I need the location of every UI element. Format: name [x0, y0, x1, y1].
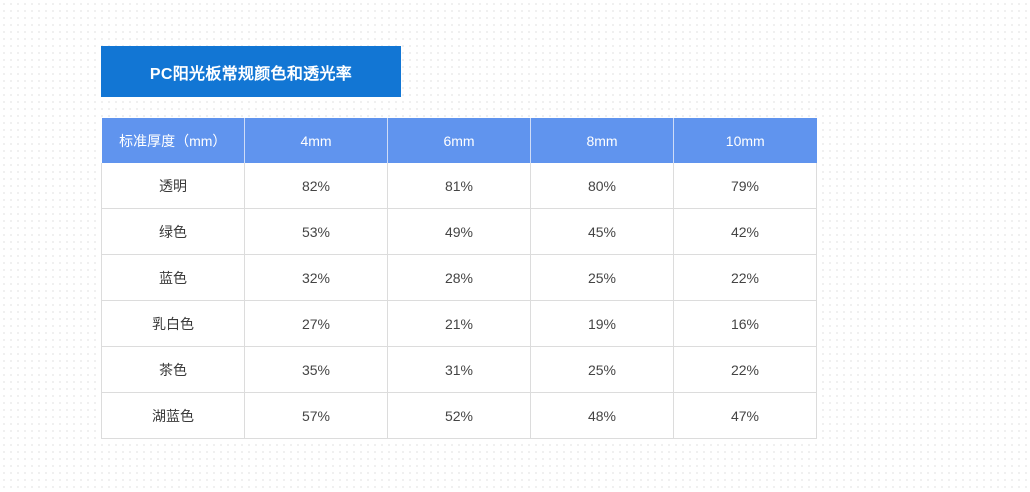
cell-value: 79% [674, 163, 817, 209]
table-row: 乳白色 27% 21% 19% 16% [102, 301, 817, 347]
cell-value: 45% [531, 209, 674, 255]
cell-value: 35% [245, 347, 388, 393]
cell-value: 22% [674, 255, 817, 301]
column-header-8mm: 8mm [531, 118, 674, 163]
cell-value: 80% [531, 163, 674, 209]
table-row: 蓝色 32% 28% 25% 22% [102, 255, 817, 301]
table-body: 透明 82% 81% 80% 79% 绿色 53% 49% 45% 42% 蓝色… [102, 163, 817, 439]
cell-value: 52% [388, 393, 531, 439]
table-row: 茶色 35% 31% 25% 22% [102, 347, 817, 393]
cell-value: 28% [388, 255, 531, 301]
cell-value: 81% [388, 163, 531, 209]
cell-value: 48% [531, 393, 674, 439]
cell-value: 57% [245, 393, 388, 439]
cell-value: 42% [674, 209, 817, 255]
cell-value: 53% [245, 209, 388, 255]
column-header-4mm: 4mm [245, 118, 388, 163]
spec-table-container: 标准厚度（mm） 4mm 6mm 8mm 10mm 透明 82% 81% 80%… [101, 118, 816, 439]
table-row: 透明 82% 81% 80% 79% [102, 163, 817, 209]
cell-value: 19% [531, 301, 674, 347]
table-row: 绿色 53% 49% 45% 42% [102, 209, 817, 255]
row-label: 透明 [102, 163, 245, 209]
table-header: 标准厚度（mm） 4mm 6mm 8mm 10mm [102, 118, 817, 163]
cell-value: 22% [674, 347, 817, 393]
cell-value: 16% [674, 301, 817, 347]
row-label: 湖蓝色 [102, 393, 245, 439]
cell-value: 25% [531, 347, 674, 393]
cell-value: 21% [388, 301, 531, 347]
column-header-6mm: 6mm [388, 118, 531, 163]
cell-value: 32% [245, 255, 388, 301]
row-label: 茶色 [102, 347, 245, 393]
cell-value: 31% [388, 347, 531, 393]
cell-value: 25% [531, 255, 674, 301]
row-label: 绿色 [102, 209, 245, 255]
title-banner: PC阳光板常规颜色和透光率 [101, 46, 401, 97]
cell-value: 49% [388, 209, 531, 255]
cell-value: 82% [245, 163, 388, 209]
row-label: 蓝色 [102, 255, 245, 301]
cell-value: 47% [674, 393, 817, 439]
column-header-thickness: 标准厚度（mm） [102, 118, 245, 163]
row-label: 乳白色 [102, 301, 245, 347]
page-title: PC阳光板常规颜色和透光率 [150, 60, 352, 84]
cell-value: 27% [245, 301, 388, 347]
table-header-row: 标准厚度（mm） 4mm 6mm 8mm 10mm [102, 118, 817, 163]
transmittance-table: 标准厚度（mm） 4mm 6mm 8mm 10mm 透明 82% 81% 80%… [101, 118, 817, 439]
table-row: 湖蓝色 57% 52% 48% 47% [102, 393, 817, 439]
column-header-10mm: 10mm [674, 118, 817, 163]
